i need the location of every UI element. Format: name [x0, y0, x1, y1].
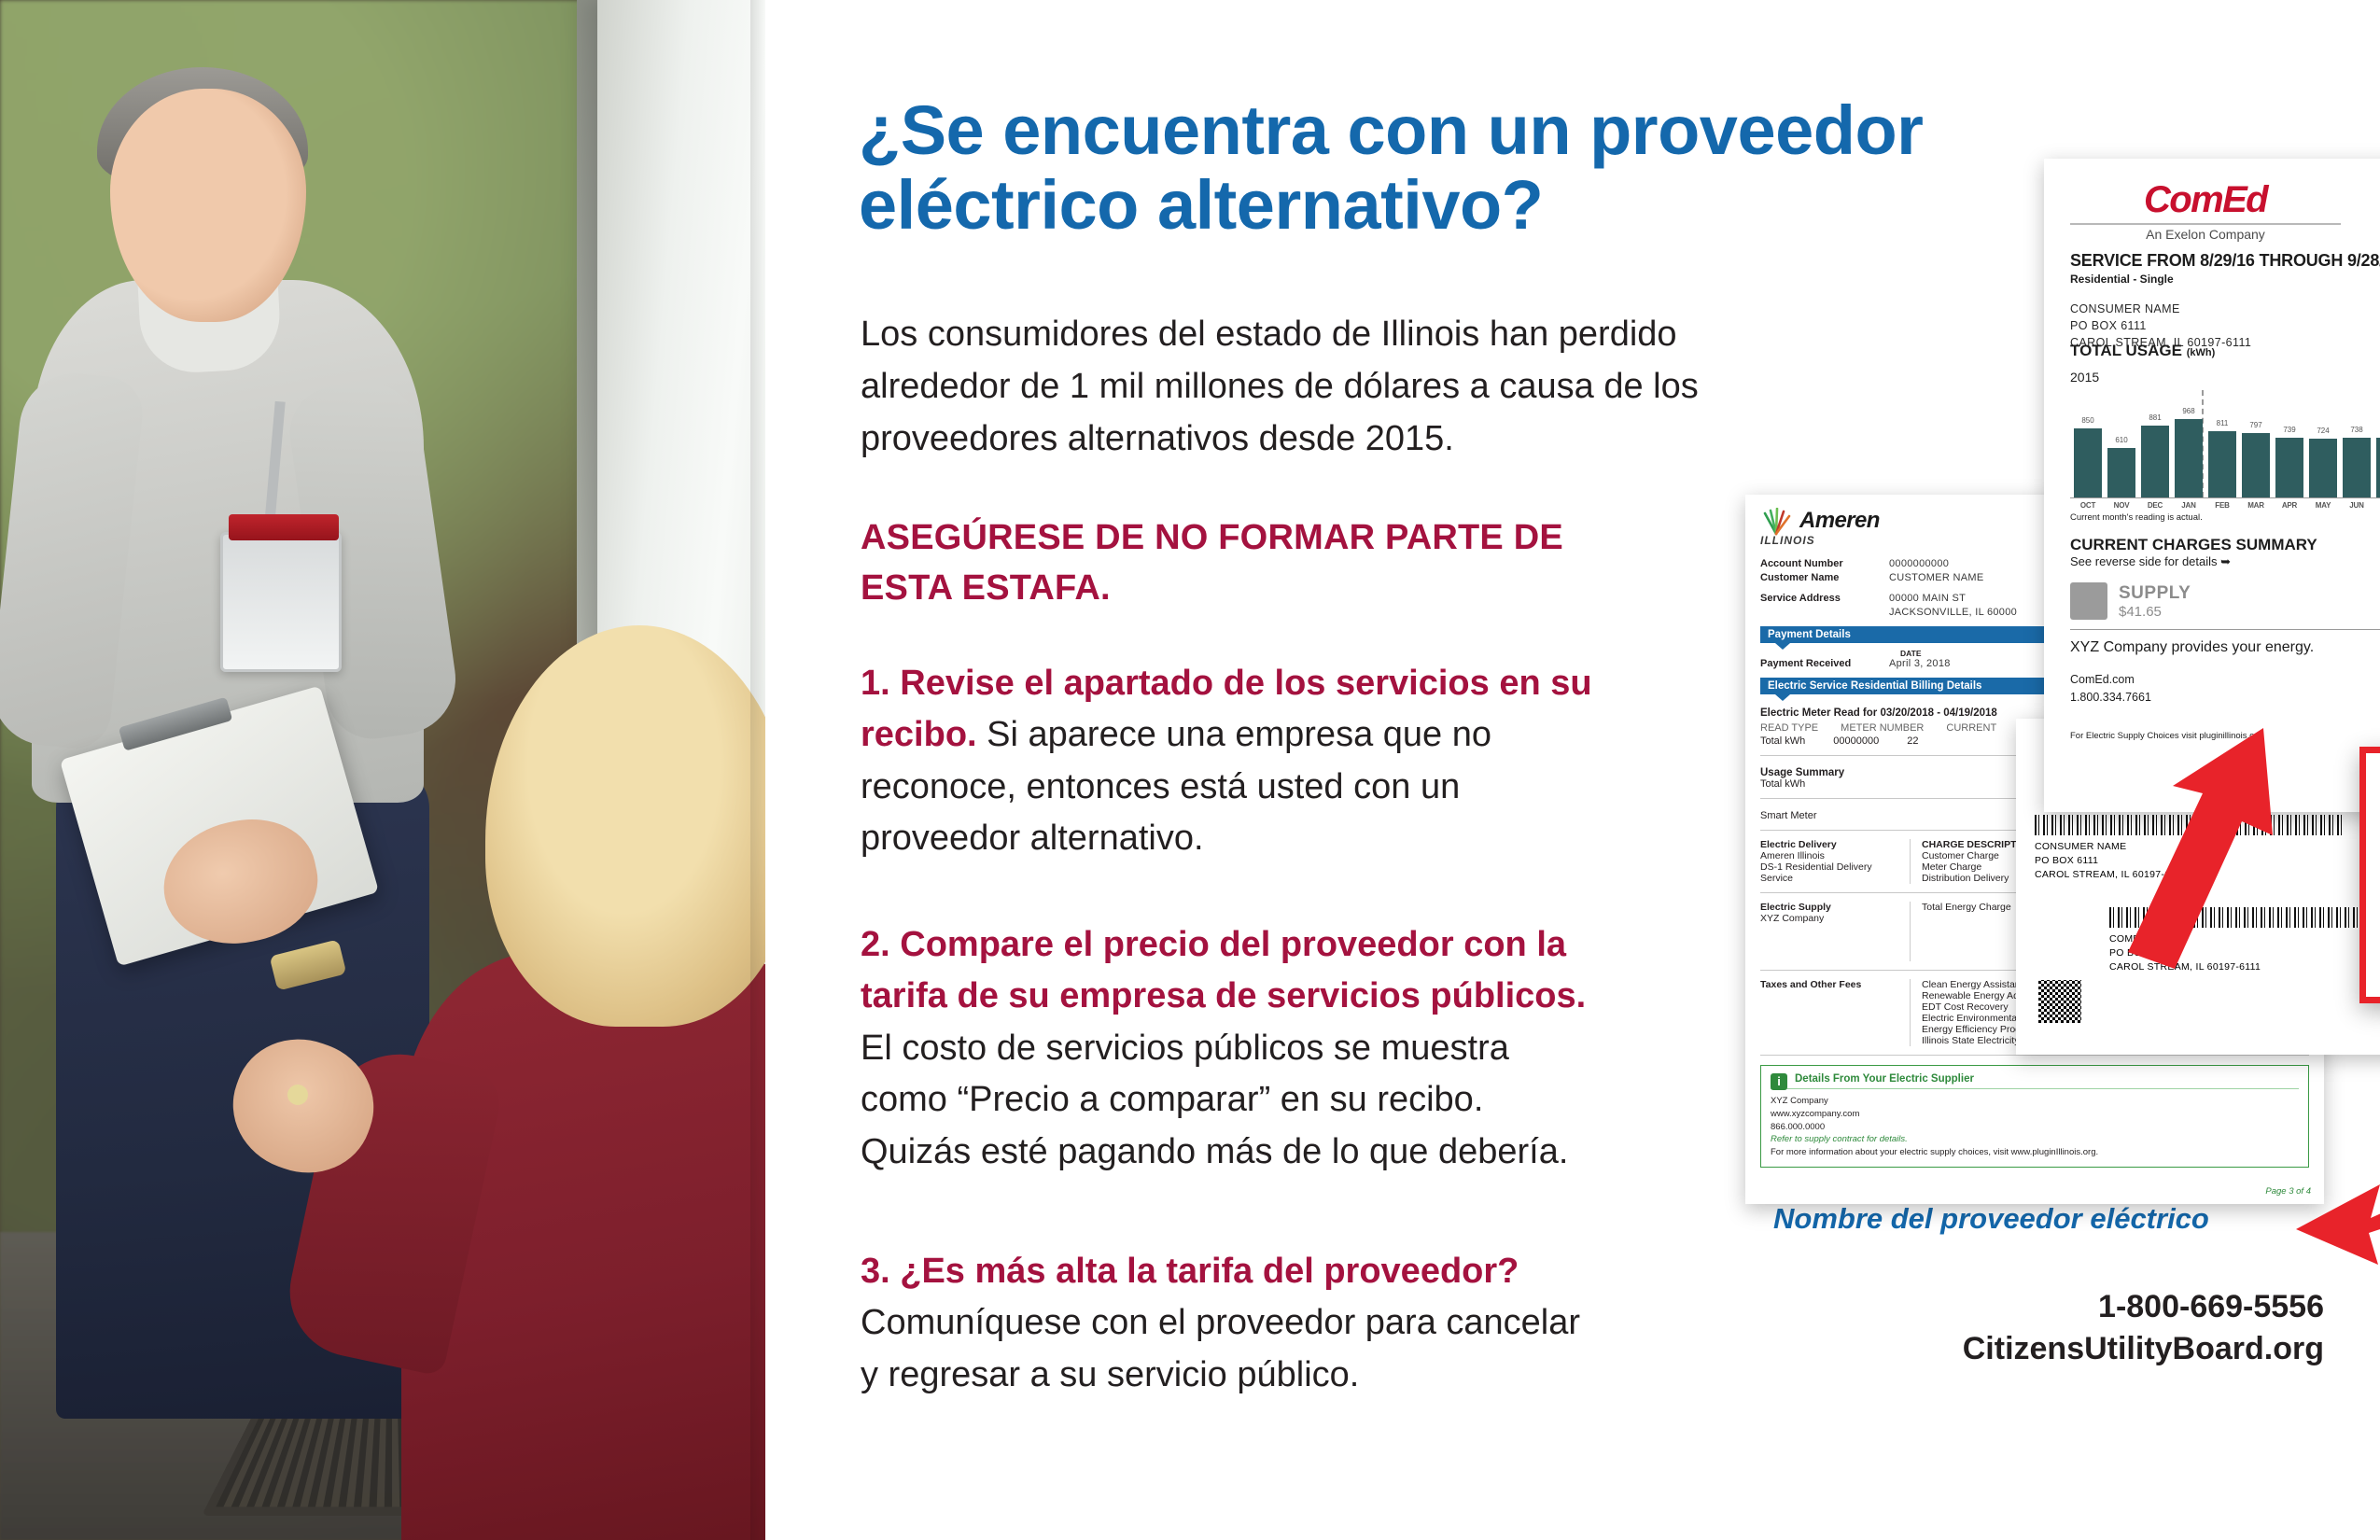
usage-bar-value: 610 — [2115, 436, 2127, 444]
ameren-fees-label: Taxes and Other Fees — [1760, 979, 1861, 990]
usage-axis-label: MAR — [2242, 501, 2270, 510]
step-3-body: Comuníquese con el proveedor para cancel… — [861, 1303, 1580, 1393]
step-item-1: 1. Revise el apartado de los servicios e… — [861, 658, 1598, 865]
usage-bar-value: 811 — [2217, 419, 2229, 427]
supply-description: XYZ Company provides your energy. — [2070, 639, 2380, 656]
supply-amount: $41.65 — [2119, 604, 2191, 620]
usage-note: Current month's reading is actual. — [2070, 512, 2380, 523]
total-usage-chart: TOTAL USAGE (kWh) 2015 2016 850610881968… — [2070, 342, 2380, 523]
addr-line: CONSUMER NAME — [2070, 301, 2380, 317]
factory-icon — [2070, 582, 2107, 620]
supply-phone: 1.800.334.7661 — [2070, 689, 2380, 707]
usage-bar-value: 968 — [2182, 407, 2194, 415]
ameren-burst-icon — [1760, 508, 1792, 536]
fee-name: EDT Cost Recovery — [1922, 1001, 2009, 1013]
supply-contact: ComEd.com 1.800.334.7661 — [2070, 671, 2380, 707]
barcode-1 — [2035, 815, 2343, 835]
val-meter-number: 00000000 — [1833, 735, 1879, 747]
usage-axis-label: JUL — [2376, 501, 2380, 510]
usage-bar: 610 — [2107, 448, 2135, 497]
addr-line: CONSUMER NAME — [2035, 840, 2380, 854]
comed-stub-address-2: COMED PO BOX 6111 CAROL STREAM, IL 60197… — [2109, 932, 2380, 975]
ameren-green-url: www.xyzcompany.com — [1771, 1108, 2299, 1121]
contact-phone[interactable]: 1-800-669-5556 — [1745, 1286, 2324, 1328]
step-item-3: 3. ¿Es más alta la tarifa del proveedor?… — [861, 1246, 1598, 1401]
usage-axis-label: APR — [2275, 501, 2303, 510]
bill-caption: Nombre del proveedor eléctrico — [1773, 1202, 2380, 1236]
comed-logo: ComEd — [2144, 179, 2267, 221]
ameren-page-number: Page 3 of 4 — [2265, 1186, 2311, 1197]
label-service-address: Service Address — [1760, 593, 1880, 604]
usage-bar-value: 881 — [2149, 413, 2161, 422]
usage-bar: 811 — [2208, 431, 2236, 497]
warning-heading: ASEGÚRESE DE NO FORMAR PARTE DE ESTA EST… — [861, 513, 1598, 614]
usage-bar-value: 738 — [2350, 426, 2362, 434]
comed-exelon-tagline: An Exelon Company — [2075, 227, 2336, 242]
supply-footer: For Electric Supply Choices visit plugin… — [2070, 731, 2380, 741]
ameren-delivery-sub2: DS-1 Residential Delivery Service — [1760, 861, 1900, 884]
usage-chart-title: TOTAL USAGE (kWh) — [2070, 342, 2380, 360]
addr-line: PO BOX 6111 — [2035, 854, 2380, 868]
col-read-type: READ TYPE — [1760, 722, 1818, 734]
label-payment-date: DATE — [1900, 649, 1922, 658]
ameren-green-company: XYZ Company — [1771, 1095, 2299, 1108]
ameren-delivery-sub1: Ameren Illinois — [1760, 850, 1900, 861]
intro-paragraph: Los consumidores del estado de Illinois … — [861, 308, 1794, 466]
usage-unit: (kWh) — [2187, 347, 2216, 358]
photo-man-face — [110, 89, 306, 322]
usage-bar-value: 797 — [2249, 421, 2261, 429]
content-panel: ¿Se encuentra con un proveedor eléctrico… — [765, 0, 2380, 1540]
ccs-title: CURRENT CHARGES SUMMARY — [2070, 536, 2380, 554]
ameren-meter-read-line: Electric Meter Read for 03/20/2018 - 04/… — [1760, 707, 1997, 719]
supply-website: ComEd.com — [2070, 671, 2380, 689]
contact-block: 1-800-669-5556 CitizensUtilityBoard.org — [1745, 1286, 2324, 1370]
usage-bar: 739 — [2275, 438, 2303, 497]
value-account-number: 0000000000 — [1889, 558, 1949, 569]
photo-man-id-badge — [220, 532, 342, 672]
label-customer-name: Customer Name — [1760, 572, 1880, 583]
photo-woman-ring — [287, 1085, 308, 1105]
col-meter-number: METER NUMBER — [1841, 722, 1924, 734]
usage-bar: 738 — [2343, 438, 2371, 497]
usage-bar: 797 — [2242, 433, 2270, 497]
usage-axis-label: FEB — [2208, 501, 2236, 510]
service-period-text: SERVICE FROM 8/29/16 THROUGH 9/28/16 — [2070, 251, 2380, 270]
comed-residential-type: Residential - Single — [2070, 273, 2380, 286]
usage-title: TOTAL USAGE — [2070, 342, 2182, 359]
qr-code-icon — [2038, 980, 2081, 1023]
contact-website[interactable]: CitizensUtilityBoard.org — [1745, 1328, 2324, 1370]
label-account-number: Account Number — [1760, 558, 1880, 569]
photo-edge-shadow — [750, 0, 765, 1540]
val-current: 22 — [1907, 735, 1918, 747]
chart-year-left: 2015 — [2070, 370, 2099, 385]
barcode-2 — [2109, 907, 2380, 928]
usage-bar: 881 — [2141, 426, 2169, 497]
ameren-green-italic: Refer to supply contract for details. — [1771, 1133, 2299, 1146]
usage-axis-label: JAN — [2175, 501, 2203, 510]
value-service-address-2: JACKSONVILLE, IL 60000 — [1889, 607, 2017, 618]
usage-bar-value: 850 — [2081, 416, 2093, 425]
usage-axis-label: NOV — [2107, 501, 2135, 510]
flyer-page: ¿Se encuentra con un proveedor eléctrico… — [0, 0, 2380, 1540]
ameren-supplier-details-box: i Details From Your Electric Supplier XY… — [1760, 1065, 2309, 1168]
value-customer-name: CUSTOMER NAME — [1889, 572, 1983, 583]
val-read-type: Total kWh — [1760, 735, 1805, 747]
comed-return-note: Return only this portion with your check… — [2070, 790, 2380, 799]
usage-bar: 968 — [2175, 419, 2203, 497]
usage-bar-value: 724 — [2317, 427, 2329, 435]
col-current: CURRENT — [1946, 722, 1996, 734]
ameren-green-title: Details From Your Electric Supplier — [1795, 1073, 1974, 1085]
usage-axis-label: DEC — [2141, 501, 2169, 510]
usage-bar: 740 — [2376, 438, 2380, 497]
value-service-address-1: 00000 MAIN ST — [1889, 593, 1966, 604]
comed-bill-sheet: ComEd An Exelon Company SERVICE FROM 8/2… — [2044, 159, 2380, 812]
value-payment-date: April 3, 2018 — [1889, 658, 1951, 669]
ameren-green-footer: For more information about your electric… — [1771, 1146, 2299, 1159]
comed-stub-address-1: CONSUMER NAME PO BOX 6111 CAROL STREAM, … — [2035, 840, 2380, 883]
label-payment-received: Payment Received — [1760, 658, 1880, 669]
addr-line: COMED — [2109, 932, 2380, 946]
ameren-supply-label: Electric Supply — [1760, 902, 1831, 913]
ameren-supply-company: XYZ Company — [1760, 913, 1900, 924]
usage-bar: 850 — [2074, 428, 2102, 497]
ccs-sub: See reverse side for details — [2070, 554, 2218, 568]
supply-callout-box: SUPPLY $41.65 XYZ Company provides your … — [2359, 747, 2380, 1003]
usage-axis-labels: OCTNOVDECJANFEBMARAPRMAYJUNJULAUGSEPOCT — [2070, 498, 2380, 510]
step-2-heading: 2. Compare el precio del proveedor con l… — [861, 925, 1586, 1015]
usage-bar: 724 — [2309, 439, 2337, 497]
addr-line: PO BOX 6111 — [2070, 317, 2380, 334]
supply-label: SUPPLY — [2119, 583, 2191, 604]
ameren-usage-summary-title: Usage Summary — [1760, 767, 1844, 778]
step-2-body: El costo de servicios públicos se muestr… — [861, 1029, 1568, 1171]
usage-axis-label: JUN — [2343, 501, 2371, 510]
usage-axis-label: MAY — [2309, 501, 2337, 510]
info-icon: i — [1771, 1073, 1787, 1090]
usage-axis-label: OCT — [2074, 501, 2102, 510]
comed-service-period: SERVICE FROM 8/29/16 THROUGH 9/28/16 (30… — [2070, 251, 2380, 271]
step-3-heading: 3. ¿Es más alta la tarifa del proveedor? — [861, 1252, 1519, 1291]
ameren-green-phone: 866.000.0000 — [1771, 1121, 2299, 1134]
photo-panel — [0, 0, 765, 1540]
bill-collage: Ameren ILLINOIS Account Number 000000000… — [1736, 149, 2380, 1204]
addr-line: CAROL STREAM, IL 60197-6111 — [2109, 960, 2380, 974]
step-item-2: 2. Compare el precio del proveedor con l… — [861, 919, 1598, 1178]
ccs-sub-row: See reverse side for details ➥ — [2070, 554, 2380, 569]
addr-line: PO BOX 6111 — [2109, 946, 2380, 960]
current-charges-summary: CURRENT CHARGES SUMMARY See reverse side… — [2070, 536, 2380, 741]
usage-bars: 8506108819688117977397247387408731158815 — [2070, 390, 2380, 498]
ameren-delivery-label: Electric Delivery — [1760, 839, 1837, 850]
usage-bar-value: 739 — [2283, 426, 2295, 434]
addr-line: CAROL STREAM, IL 60197-6111 — [2035, 868, 2380, 882]
